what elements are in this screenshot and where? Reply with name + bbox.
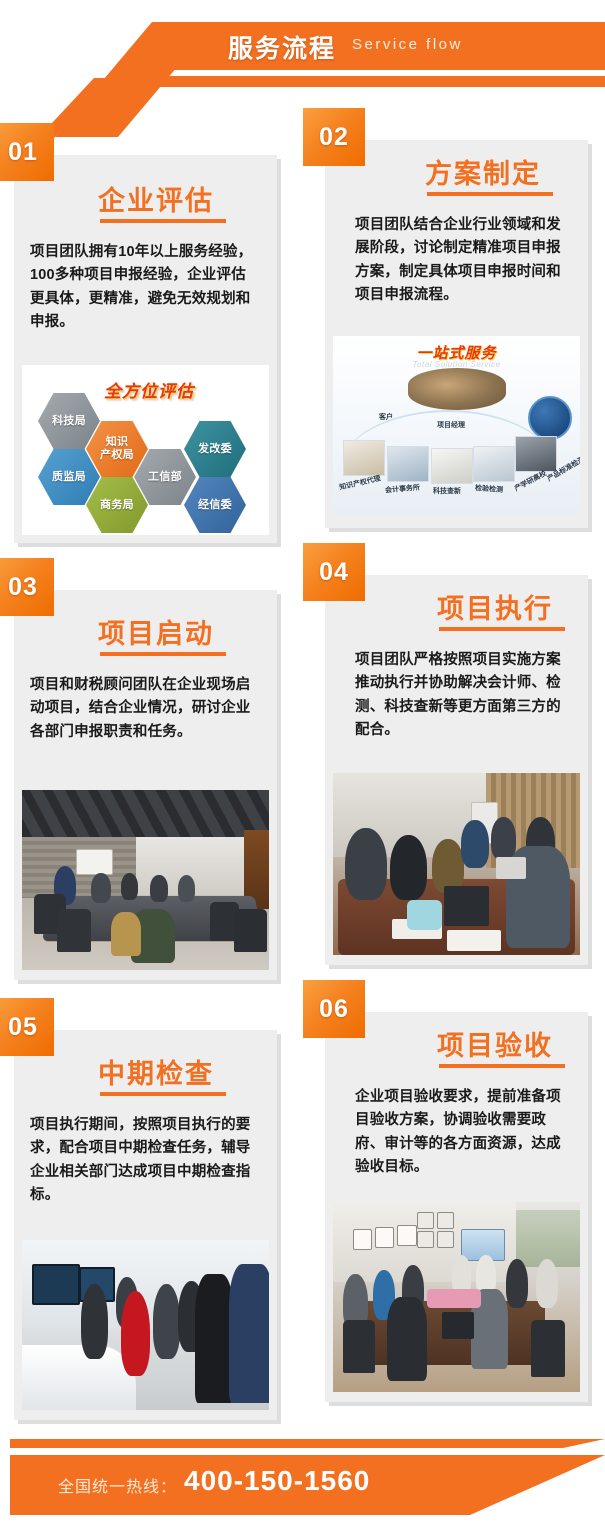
photo-person-seated: [111, 912, 141, 955]
photo-person: [461, 820, 488, 867]
hex-node-fagai: 发改委: [184, 421, 246, 477]
step-card-05: 05 中期检查 项目执行期间，按照项目执行的要求，配合项目中期检查任务，辅导企业…: [14, 1030, 277, 1420]
page-subtitle: Service flow: [352, 36, 463, 53]
photo-person: [345, 828, 387, 901]
photo-certificate-frame: [437, 1231, 454, 1248]
step-body-04: 项目团队严格按照项目实施方案推动执行并协助解决会计师、检测、科技查新等更方面第三…: [355, 649, 569, 743]
step-card-02: 02 方案制定 项目团队结合企业行业领域和发展阶段，讨论制定精准项目申报方案，制…: [325, 140, 588, 528]
photo-laptop: [444, 886, 488, 926]
step-title-01: 企业评估: [98, 179, 214, 218]
photo-laptop: [496, 857, 526, 879]
step-number-badge-05: 05: [0, 998, 54, 1056]
service-node-0: [343, 440, 385, 476]
photo-person: [150, 875, 167, 902]
photo-acceptance-meeting: [333, 1202, 580, 1392]
step-card-03: 03 项目启动 项目和财税顾问团队在企业现场启动项目，结合企业情况，研讨企业各部…: [14, 590, 277, 980]
step-body-05: 项目执行期间，按照项目执行的要求，配合项目中期检查任务，辅导企业相关部门达成项目…: [30, 1114, 254, 1208]
photo-laptop: [442, 1312, 474, 1339]
photo-person-black-jacket: [195, 1274, 235, 1403]
photo-flowers: [427, 1289, 481, 1308]
photo-certificate-frame: [353, 1229, 372, 1250]
header-accent-stripe: [108, 76, 605, 87]
photo-showroom-visit: [22, 1240, 269, 1410]
photo-whiteboard: [76, 849, 113, 874]
certification-seal-icon: [528, 396, 572, 440]
step-title-rule-05: [100, 1092, 226, 1096]
one-stop-service-diagram: 一站式服务 Total Solution Service 客户 项目经理 知识产…: [333, 336, 580, 516]
photo-person: [178, 875, 195, 902]
service-node-2: [431, 448, 473, 484]
photo-certificate-frame: [437, 1212, 454, 1229]
step-title-02: 方案制定: [425, 152, 541, 191]
step-body-06: 企业项目验收要求，提前准备项目验收方案，协调验收需要政府、审计等的各方面资源，达…: [355, 1086, 569, 1180]
photo-chair: [234, 909, 266, 952]
hotline-label: 全国统一热线：: [58, 1473, 177, 1497]
step-title-05: 中期检查: [98, 1052, 214, 1091]
step-body-01: 项目团队拥有10年以上服务经验，100多种项目申报经验，企业评估更具体，更精准，…: [30, 241, 254, 335]
photo-bag: [407, 900, 442, 929]
step-title-rule-01: [100, 219, 226, 223]
photo-person: [81, 1284, 108, 1359]
photo-certificate-frame: [397, 1225, 416, 1246]
photo-chair: [343, 1320, 375, 1373]
photo-ceiling: [22, 790, 269, 837]
service-node-3: [473, 446, 515, 482]
photo-person: [432, 839, 464, 894]
photo-person-foreground: [387, 1297, 427, 1381]
step-title-04: 项目执行: [437, 587, 553, 626]
step-number-badge-04: 04: [303, 543, 365, 601]
hotline-number[interactable]: 400-150-1560: [184, 1465, 370, 1497]
photo-display-screen: [32, 1264, 80, 1305]
photo-chair: [57, 909, 92, 952]
step-number-badge-02: 02: [303, 108, 365, 166]
step-number-badge-06: 06: [303, 980, 365, 1038]
service-label-1: 会计事务所: [385, 482, 421, 495]
service-label-2: 科技查新: [433, 486, 461, 496]
step-body-03: 项目和财税顾问团队在企业现场启动项目，结合企业情况，研讨企业各部门申报职责和任务…: [30, 674, 254, 744]
one-stop-service-client-label: 客户: [379, 412, 393, 422]
photo-certificate-frame: [375, 1227, 394, 1248]
step-card-04: 04 项目执行 项目团队严格按照项目实施方案推动执行并协助解决会计师、检测、科技…: [325, 575, 588, 965]
photo-person: [536, 1259, 558, 1308]
service-node-1: [387, 446, 429, 482]
photo-counter: [22, 1345, 136, 1410]
service-node-4: [515, 436, 557, 472]
page-header: 服务流程 Service flow: [0, 0, 605, 110]
page-footer: 全国统一热线： 400-150-1560: [0, 1425, 605, 1538]
photo-conference-room: [22, 790, 269, 970]
service-label-4: 产学研高校: [513, 468, 549, 493]
photo-chair: [531, 1320, 566, 1377]
step-card-01: 01 企业评估 项目团队拥有10年以上服务经验，100多种项目申报经验，企业评估…: [14, 155, 277, 543]
photo-person: [491, 817, 516, 861]
photo-working-meeting: [333, 773, 580, 955]
step-title-06: 项目验收: [437, 1024, 553, 1063]
hexagon-chart: 全方位评估 科技局 知识产权局 质监局 工信部 商务局 发改委 经信委: [22, 365, 269, 535]
step-title-03: 项目启动: [98, 612, 214, 651]
hexagon-chart-title: 全方位评估: [104, 377, 194, 402]
photo-person-red-coat: [121, 1291, 151, 1376]
photo-person: [390, 835, 427, 901]
step-body-02: 项目团队结合企业行业领域和发展阶段，讨论制定精准项目申报方案，制定具体项目申报时…: [355, 214, 569, 308]
step-title-rule-02: [427, 192, 553, 196]
photo-papers: [447, 930, 501, 952]
photo-certificate-frame: [417, 1212, 434, 1229]
photo-person: [121, 873, 138, 900]
one-stop-service-hero-photo: [408, 368, 506, 410]
footer-accent-stripe: [10, 1439, 605, 1448]
step-number-badge-01: 01: [0, 123, 54, 181]
step-number-badge-03: 03: [0, 558, 54, 616]
photo-person: [91, 873, 111, 904]
photo-certificate-frame: [417, 1231, 434, 1248]
hex-node-jingxin: 经信委: [184, 477, 246, 533]
step-title-rule-04: [439, 627, 565, 631]
step-card-06: 06 项目验收 企业项目验收要求，提前准备项目验收方案，协调验收需要政府、审计等…: [325, 1012, 588, 1402]
page-title: 服务流程: [228, 29, 336, 65]
step-title-rule-03: [100, 652, 226, 656]
service-label-3: 检验检测: [475, 483, 504, 495]
service-label-0: 知识产权代理: [338, 473, 381, 492]
photo-person: [506, 1259, 528, 1308]
step-title-rule-06: [439, 1064, 565, 1068]
photo-person: [153, 1284, 180, 1359]
photo-person-blue-jacket: [229, 1264, 269, 1403]
one-stop-service-center-label: 项目经理: [437, 420, 465, 430]
